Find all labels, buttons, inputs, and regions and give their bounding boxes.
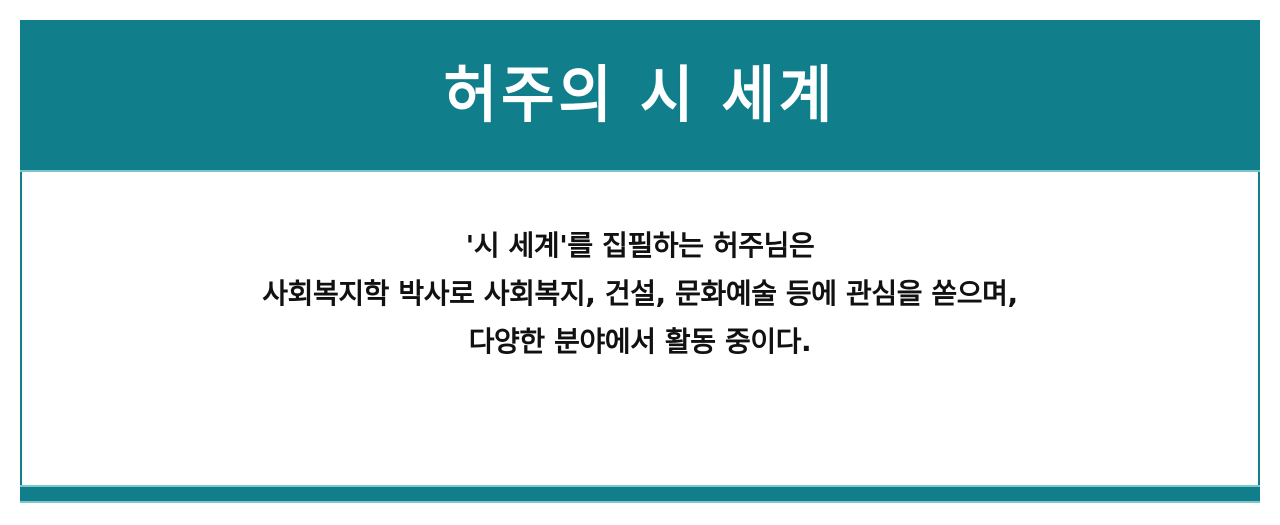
- profile-card: 허주의 시 세계 '시 세계'를 집필하는 허주님은 사회복지학 박사로 사회복…: [20, 20, 1260, 503]
- page-title: 허주의 시 세계: [444, 64, 837, 125]
- description-line-3: 다양한 분야에서 활동 중이다.: [22, 318, 1258, 366]
- description-block: '시 세계'를 집필하는 허주님은 사회복지학 박사로 사회복지, 건설, 문화…: [22, 172, 1258, 485]
- header-banner: 허주의 시 세계: [20, 20, 1260, 172]
- footer-accent-bar: [20, 485, 1260, 503]
- description-line-1: '시 세계'를 집필하는 허주님은: [22, 222, 1258, 270]
- description-line-2: 사회복지학 박사로 사회복지, 건설, 문화예술 등에 관심을 쏟으며,: [22, 270, 1258, 318]
